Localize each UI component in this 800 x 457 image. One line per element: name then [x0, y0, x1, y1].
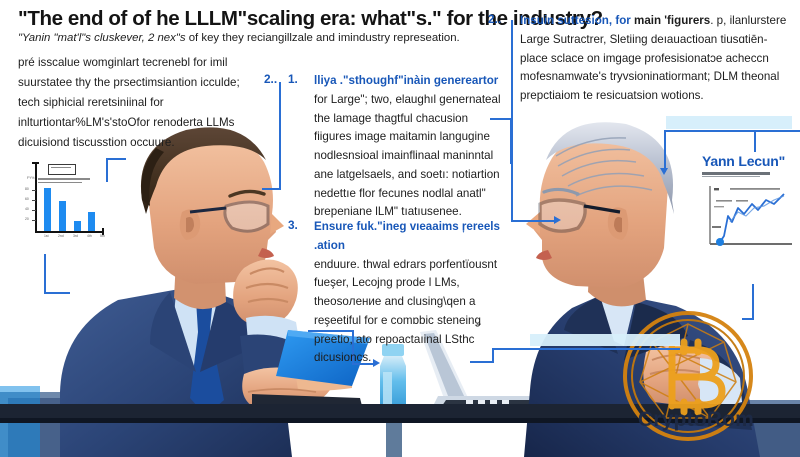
- bar-chart-yaxis-cap: [32, 162, 39, 164]
- bar-chart-ytick: [32, 200, 36, 201]
- bar-chart-subtitle-line-2: [38, 182, 82, 183]
- bar-chart-legend-line: [51, 167, 71, 168]
- bar-chart-subtitle-line-1: [38, 178, 90, 180]
- bar-chart-yaxis: [35, 162, 37, 232]
- list-item-2-lead: Insuin suttesion, for: [520, 14, 631, 27]
- bar-chart-xtick-label: 5th: [100, 234, 105, 238]
- bar-chart-bar: [44, 188, 51, 231]
- bar-chart-ytick-label: 80: [25, 187, 29, 191]
- list-rule-col1: [279, 82, 281, 190]
- list-item-1-body: lliya ."sthoughf"inàin genereartor for L…: [314, 72, 503, 222]
- list-marker-stray: 2..: [264, 72, 277, 86]
- line-chart: [700, 182, 794, 258]
- connector-linechart-drop: [752, 284, 754, 320]
- list-item-1-lead-tail: for: [314, 93, 328, 106]
- subtitle-rest: of key they reciangillzale and imindustr…: [186, 32, 460, 44]
- bar-chart-xtick-label: 4th: [87, 234, 92, 238]
- bar-chart-ytick: [32, 220, 36, 221]
- connector-col2-arrow-line: [511, 220, 555, 222]
- list-item-2-number: 2..: [488, 12, 501, 26]
- list-item-3-body: Ensure fuk."ineg vıeaaims ŗereels .ation…: [314, 218, 503, 368]
- connector-linechart-foot: [742, 318, 754, 320]
- connector-col2-drop: [511, 120, 513, 220]
- page-title: "The end of of he LLLM"scaling era: what…: [18, 8, 488, 30]
- lead-paragraph: pré isscalue womginlart tecrenebl for im…: [18, 53, 258, 153]
- list-rule-col1-foot: [262, 188, 280, 190]
- bar-chart-legend-box: [48, 164, 76, 175]
- bar-chart-bar: [88, 212, 95, 231]
- connector-bottomband-line: [492, 348, 680, 350]
- bar-chart-ytick: [32, 190, 36, 191]
- callout-title-yann-lecun: Yann Lecun": [702, 153, 785, 169]
- infographic-canvas: CryptoRom FY%: [0, 0, 800, 457]
- arrowhead-to-right-man: [554, 216, 561, 224]
- list-item-2-body: Insuin suttesion, for main 'figurers. p,…: [520, 12, 788, 106]
- bar-chart: FY% 80 60 40 20 1st 2nd 3rd 4th 5th: [18, 162, 106, 244]
- list-rule-col2: [511, 20, 513, 122]
- list-item-3-number: 3.: [288, 218, 298, 232]
- callout-bracket-left: [664, 130, 666, 172]
- callout-underline-thick: [702, 172, 770, 175]
- list-item-1-rest: Large"; two, elaughıl genernateal the la…: [314, 93, 501, 219]
- list-item-3-lead: Ensure fuk."ineg vıeaaims ŗereels .ation: [314, 220, 500, 252]
- page-subtitle: "Yanin "mat'l"s cluskever, 2 nex"s of ke…: [18, 32, 500, 46]
- list-item-1-lead: lliya ."sthoughf"inàin genereartor: [314, 74, 498, 87]
- list-item-1-number: 1.: [288, 72, 298, 86]
- bar-chart-yaxis-caption: FY%: [27, 176, 34, 180]
- list-item-2-rest: Large Sutractrer, Sletiing deıauactioan …: [520, 33, 779, 102]
- connector-elbow-a-horizontal: [106, 158, 126, 160]
- connector-short-tick-left: [44, 264, 46, 280]
- bar-chart-xtick-label: 3rd: [73, 234, 78, 238]
- bar-chart-ytick-label: 40: [25, 207, 29, 211]
- line-chart-svg: [700, 182, 794, 258]
- bar-chart-ytick: [32, 210, 36, 211]
- connector-left-horizontal: [44, 292, 70, 294]
- arrowhead-to-callout: [660, 168, 668, 175]
- connector-elbow-a-vertical: [106, 158, 108, 182]
- bar-chart-ytick-label: 60: [25, 197, 29, 201]
- list-item-2-lead-tail: . p, ilanlurstere: [710, 14, 786, 27]
- callout-bracket-top: [664, 130, 800, 132]
- list-item-2-bold: main 'figurers: [631, 14, 710, 27]
- list-item-3-rest: enduure. thwal edrars porfentïousnt fueş…: [314, 258, 497, 365]
- bar-chart-xtick-label: 1st: [44, 234, 49, 238]
- bar-chart-xaxis: [35, 231, 103, 233]
- watermark-brand-text: CryptoRom: [612, 408, 780, 432]
- subtitle-italic-part: "Yanin "mat'l"s cluskever, 2 nex"s: [18, 32, 186, 44]
- bar-chart-bar: [59, 201, 66, 231]
- bar-chart-xtick-label: 2nd: [58, 234, 64, 238]
- bar-chart-ytick-label: 20: [25, 217, 29, 221]
- highlight-band-bottom: [530, 334, 680, 346]
- bar-chart-bar: [74, 221, 81, 231]
- callout-underline-thin: [702, 176, 760, 177]
- callout-bracket-right: [754, 130, 756, 152]
- highlight-band: [666, 116, 792, 129]
